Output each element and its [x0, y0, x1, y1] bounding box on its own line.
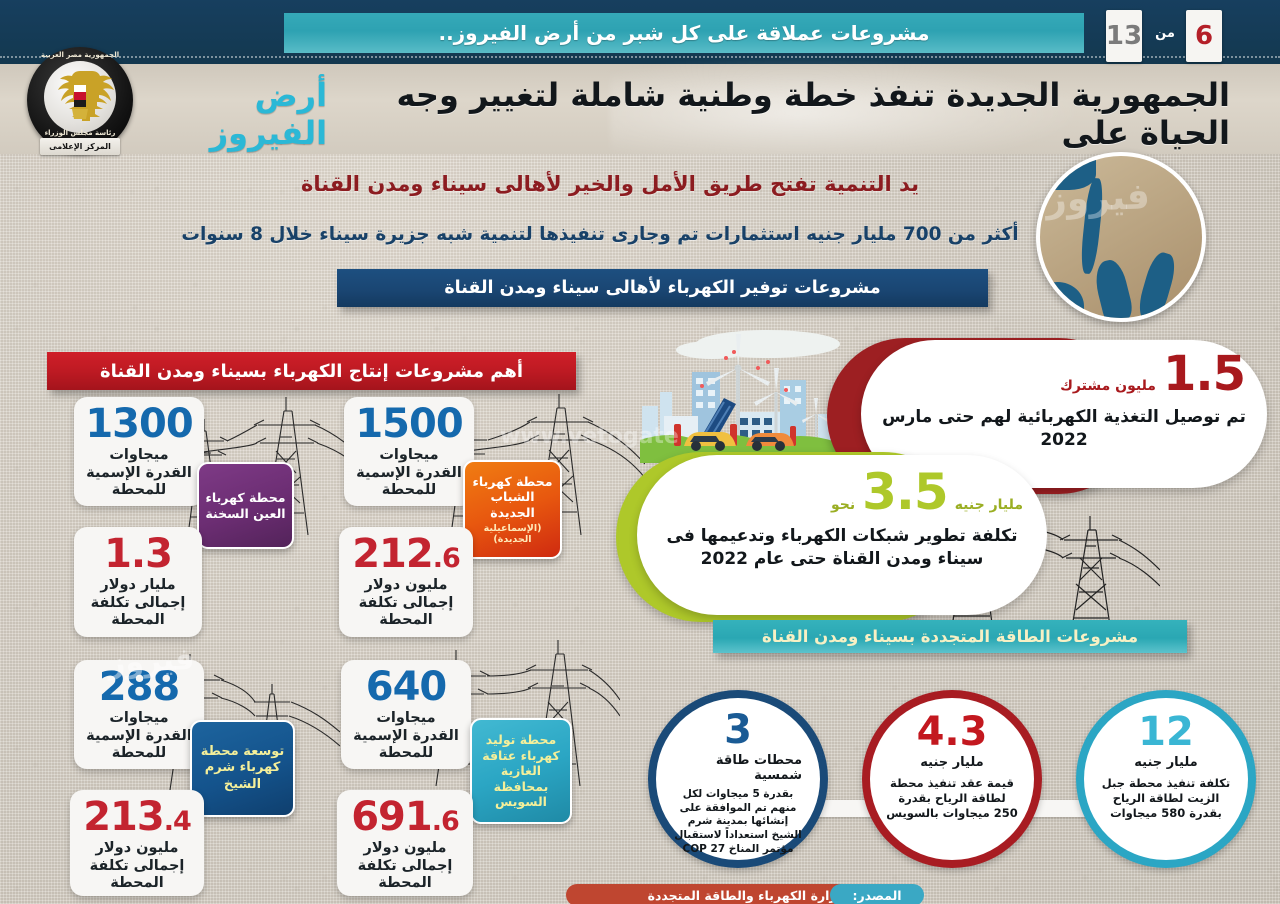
- infographic-canvas: مشروعات عملاقة على كل شبر من أرض الفيروز…: [0, 0, 1280, 904]
- emblem-bottom-text: رئاسة مجلس الوزراء: [27, 129, 133, 137]
- page-current: 6: [1195, 21, 1213, 51]
- grid-cost-unit: مليار جنيه: [955, 497, 1023, 513]
- station-capacity-card: 1500 ميجاوات القدرة الإسمية للمحطة: [344, 397, 474, 506]
- capacity-unit: ميجاوات القدرة الإسمية للمحطة: [84, 710, 194, 763]
- renewable-unit: مليار جنيه: [920, 755, 983, 770]
- station-tag-label: توسعة محطة كهرباء شرم الشيخ: [197, 744, 288, 793]
- capacity-unit: ميجاوات القدرة الإسمية للمحطة: [84, 447, 194, 500]
- page-title-accent: أرض الفيروز: [150, 76, 327, 152]
- production-section-banner: أهم مشروعات إنتاج الكهرباء بسيناء ومدن ا…: [47, 352, 576, 390]
- renewable-card-wind-suez: 4.3 مليار جنيه قيمة عقد تنفيذ محطة لطاقة…: [870, 698, 1034, 860]
- grid-cost-card: مليار جنيه 3.5 نحو تكلفة تطوير شبكات الك…: [637, 455, 1047, 615]
- station-tag-shabab-new: محطة كهرباء الشباب الجديدة (الإسماعيلية …: [463, 460, 562, 559]
- page-total: 13: [1106, 21, 1142, 51]
- grid-cost-value: 3.5: [862, 467, 948, 517]
- production-section-banner-text: أهم مشروعات إنتاج الكهرباء بسيناء ومدن ا…: [100, 361, 523, 382]
- cost-value: 212.6: [349, 534, 463, 574]
- page-title-main: الجمهورية الجديدة تنفذ خطة وطنية شاملة ل…: [337, 76, 1230, 152]
- capacity-unit: ميجاوات القدرة الإسمية للمحطة: [351, 710, 461, 763]
- renewable-card-solar: 3 محطات طاقة شمسية بقدرة 5 ميجاوات لكل م…: [656, 698, 820, 860]
- subscribers-value: 1.5: [1163, 350, 1245, 398]
- intro-line-2: أكثر من 700 مليار جنيه استثمارات تم وجار…: [120, 224, 1080, 245]
- station-tag-ataqa: محطة توليد كهرباء عتاقة الغازية بمحافظة …: [470, 718, 572, 824]
- cost-unit: مليون دولار إجمالى تكلفة المحطة: [80, 840, 194, 893]
- renewable-unit: محطات طاقة شمسية: [674, 753, 802, 783]
- cabinet-emblem: الجمهورية مصر العربية رئاسة مجلس الوزراء…: [27, 47, 133, 153]
- station-tag-sublabel: (الإسماعيلية الجديدة): [470, 523, 555, 546]
- station-capacity-card: 1300 ميجاوات القدرة الإسمية للمحطة: [74, 397, 204, 506]
- page-separator: من: [1146, 26, 1184, 41]
- emblem-plate: المركز الإعلامى: [40, 138, 120, 155]
- grid-cost-prefix: نحو: [831, 497, 855, 513]
- capacity-value: 640: [351, 667, 461, 707]
- teal-kicker-banner: مشروعات عملاقة على كل شبر من أرض الفيروز…: [284, 13, 1084, 53]
- renewable-value: 12: [1138, 712, 1194, 752]
- page-current-box: 6: [1186, 10, 1222, 62]
- capacity-value: 1500: [354, 404, 464, 444]
- cost-unit: مليار دولار إجمالى تكلفة المحطة: [84, 577, 192, 630]
- emblem-plate-text: المركز الإعلامى: [49, 142, 111, 151]
- map-watermark: فيروز: [1045, 176, 1150, 221]
- station-tag-label: محطة كهرباء العين السخنة: [204, 490, 287, 521]
- renewable-description: بقدرة 5 ميجاوات لكل منهم تم الموافقة على…: [674, 788, 802, 856]
- station-tag-ain-sokhna: محطة كهرباء العين السخنة: [197, 462, 294, 549]
- station-tag-sharm: توسعة محطة كهرباء شرم الشيخ: [190, 720, 295, 817]
- renewable-description: قيمة عقد تنفيذ محطة لطاقة الرياح بقدرة 2…: [886, 776, 1018, 821]
- cost-decimal: .4: [164, 806, 191, 837]
- emblem-top-text: الجمهورية مصر العربية: [27, 51, 133, 59]
- cost-value: 691.6: [347, 797, 463, 837]
- intro-line-1: يد التنمية تفتح طريق الأمل والخير لأهالى…: [150, 172, 1070, 196]
- renewable-section-banner-text: مشروعات الطاقة المتجددة بسيناء ومدن القن…: [762, 627, 1138, 646]
- cost-value: 1.3: [84, 534, 192, 574]
- station-tag-label: محطة توليد كهرباء عتاقة الغازية بمحافظة …: [477, 732, 565, 810]
- grid-cost-description: تكلفة تطوير شبكات الكهرباء وتدعيمها فى س…: [659, 525, 1025, 571]
- station-capacity-card: 288 ميجاوات القدرة الإسمية للمحطة: [74, 660, 204, 769]
- electricity-section-banner-text: مشروعات توفير الكهرباء لأهالى سيناء ومدن…: [444, 278, 880, 298]
- renewable-description: تكلفة تنفيذ محطة جبل الزيت لطاقة الرياح …: [1100, 776, 1232, 821]
- source-value: وزارة الكهرباء والطاقة المتجددة: [648, 888, 845, 903]
- renewable-value: 4.3: [917, 712, 988, 752]
- capacity-unit: ميجاوات القدرة الإسمية للمحطة: [354, 447, 464, 500]
- cost-decimal: .6: [432, 806, 459, 837]
- capacity-value: 1300: [84, 404, 194, 444]
- station-cost-card: 212.6 مليون دولار إجمالى تكلفة المحطة: [339, 527, 473, 637]
- station-cost-card: 1.3 مليار دولار إجمالى تكلفة المحطة: [74, 527, 202, 637]
- station-tag-label: محطة كهرباء الشباب الجديدة: [470, 474, 555, 521]
- station-cost-card: 691.6 مليون دولار إجمالى تكلفة المحطة: [337, 790, 473, 896]
- teal-kicker-text: مشروعات عملاقة على كل شبر من أرض الفيروز…: [438, 21, 929, 45]
- cost-decimal: .6: [433, 543, 460, 574]
- source-label-pill: المصدر:: [830, 884, 924, 904]
- cost-unit: مليون دولار إجمالى تكلفة المحطة: [349, 577, 463, 630]
- electricity-section-banner: مشروعات توفير الكهرباء لأهالى سيناء ومدن…: [337, 269, 988, 307]
- renewable-value: 3: [724, 710, 752, 750]
- sinai-map-thumbnail: فيروز: [1036, 152, 1206, 322]
- renewable-card-jabal-elzeit: 12 مليار جنيه تكلفة تنفيذ محطة جبل الزيت…: [1084, 698, 1248, 860]
- renewable-unit: مليار جنيه: [1134, 755, 1197, 770]
- subscribers-description: تم توصيل التغذية الكهربائية لهم حتى مارس…: [881, 406, 1247, 452]
- source-label: المصدر:: [852, 888, 901, 903]
- renewable-section-banner: مشروعات الطاقة المتجددة بسيناء ومدن القن…: [713, 620, 1187, 653]
- capacity-value: 288: [84, 667, 194, 707]
- page-total-box: 13: [1106, 10, 1142, 62]
- cost-value: 213.4: [80, 797, 194, 837]
- subscribers-unit: مليون مشترك: [1060, 378, 1156, 394]
- page-title: الجمهورية الجديدة تنفذ خطة وطنية شاملة ل…: [150, 86, 1230, 142]
- station-capacity-card: 640 ميجاوات القدرة الإسمية للمحطة: [341, 660, 471, 769]
- cost-unit: مليون دولار إجمالى تكلفة المحطة: [347, 840, 463, 893]
- station-cost-card: 213.4 مليون دولار إجمالى تكلفة المحطة: [70, 790, 204, 896]
- eagle-of-saladin-icon: [44, 61, 116, 133]
